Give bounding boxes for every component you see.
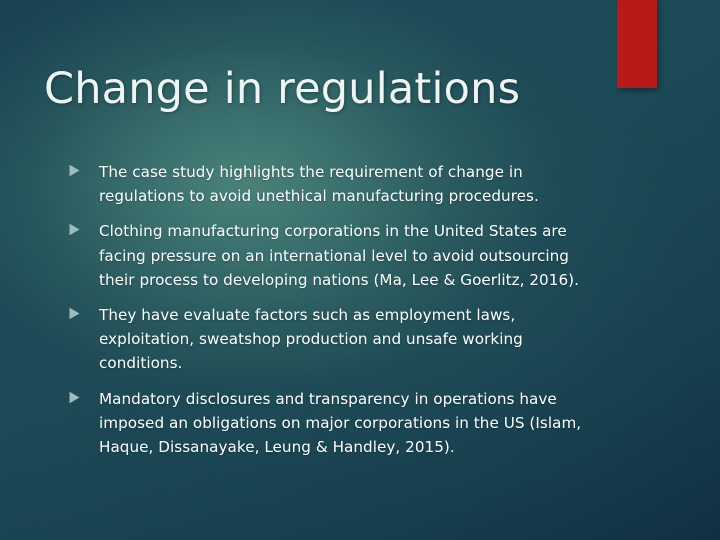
bullet-list: The case study highlights the requiremen… <box>68 160 608 459</box>
list-item: Clothing manufacturing corporations in t… <box>68 219 608 292</box>
triangle-right-icon <box>68 219 99 236</box>
list-item-text: They have evaluate factors such as emplo… <box>99 303 608 376</box>
triangle-right-icon <box>68 387 99 404</box>
slide-title: Change in regulations <box>44 65 584 113</box>
triangle-right-icon <box>68 303 99 320</box>
list-item-text: The case study highlights the requiremen… <box>99 160 608 208</box>
red-accent-bar <box>617 0 657 88</box>
presentation-slide: Change in regulations The case study hig… <box>0 0 720 540</box>
list-item: Mandatory disclosures and transparency i… <box>68 387 608 460</box>
list-item: The case study highlights the requiremen… <box>68 160 608 208</box>
list-item: They have evaluate factors such as emplo… <box>68 303 608 376</box>
list-item-text: Mandatory disclosures and transparency i… <box>99 387 608 460</box>
list-item-text: Clothing manufacturing corporations in t… <box>99 219 608 292</box>
triangle-right-icon <box>68 160 99 177</box>
